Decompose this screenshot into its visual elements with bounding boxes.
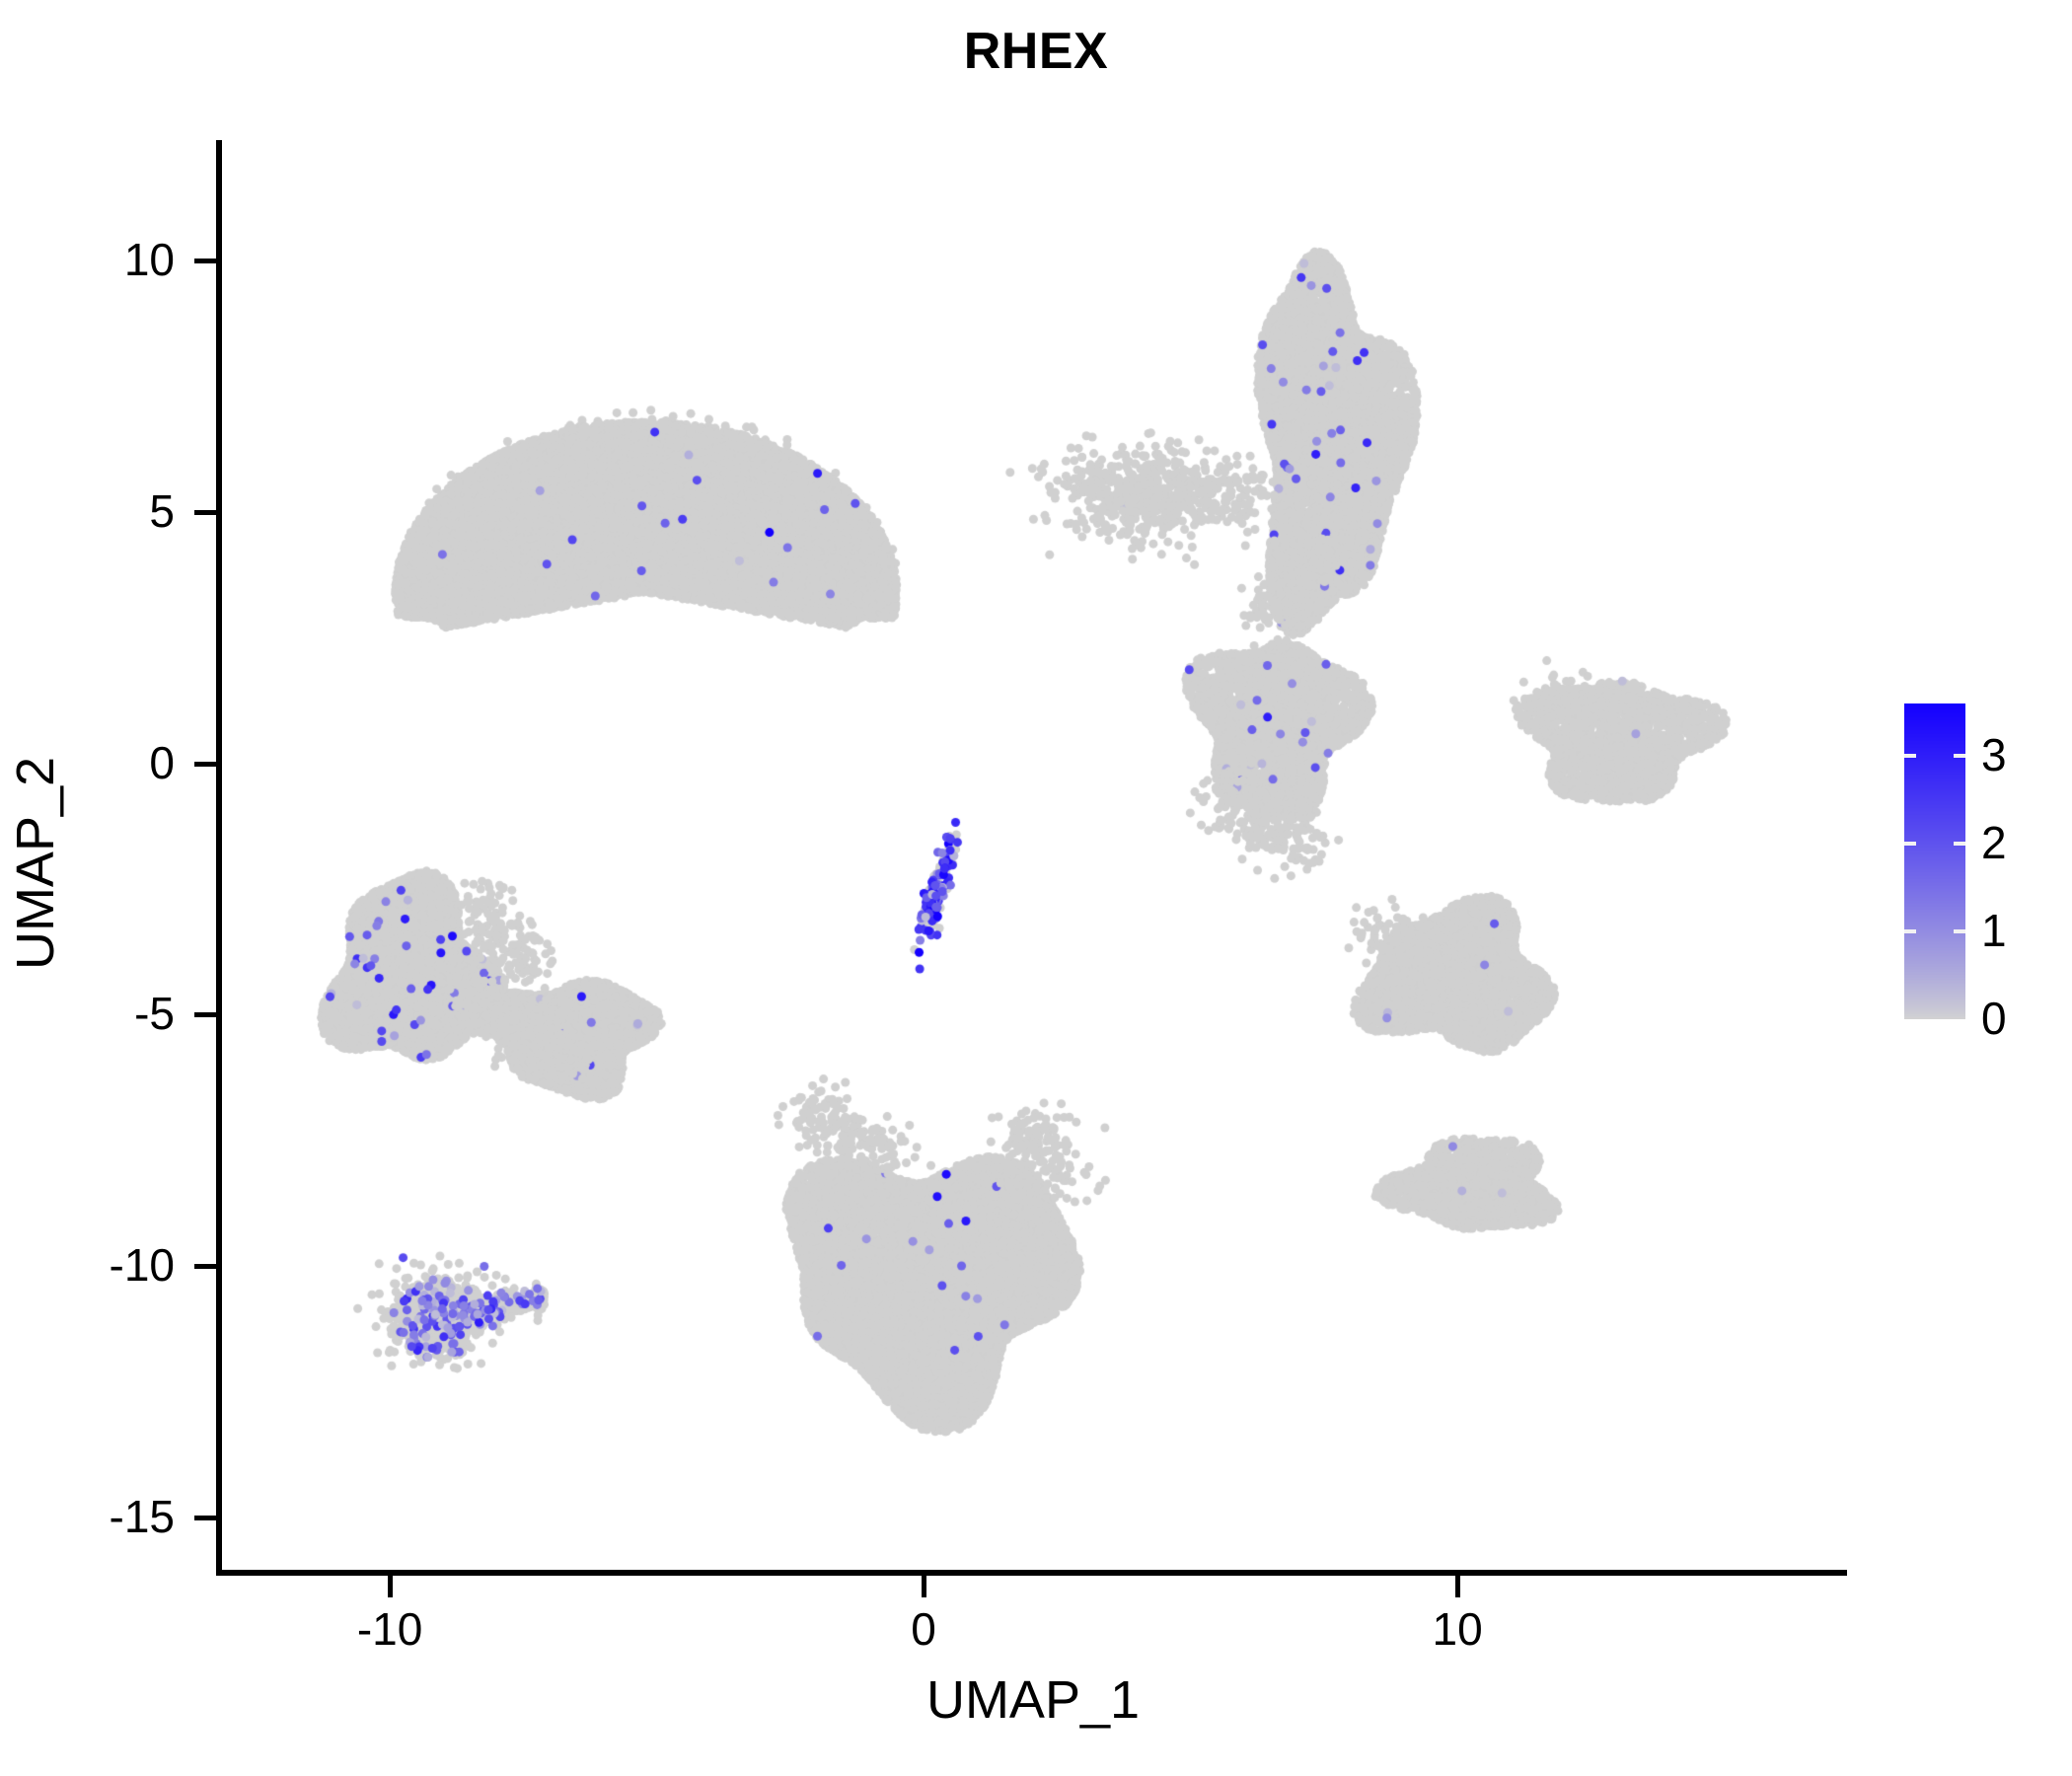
x-axis-title: UMAP_1 [219, 1669, 1847, 1731]
x-tick-label: 0 [825, 1606, 1022, 1652]
x-axis-line [216, 1570, 1847, 1576]
y-tick-mark [194, 1012, 216, 1017]
colorbar-tick-label: 0 [1981, 996, 2050, 1041]
y-tick-mark [194, 259, 216, 263]
colorbar-tick-label: 1 [1981, 908, 2050, 953]
x-tick-mark [388, 1576, 393, 1597]
colorbar-tick-mark [1954, 842, 1965, 846]
colorbar-tick-mark [1904, 754, 1916, 758]
y-axis-line [216, 140, 222, 1576]
colorbar-tick-label: 2 [1981, 820, 2050, 865]
y-tick-mark [194, 1264, 216, 1269]
x-tick-label: -10 [291, 1606, 488, 1652]
colorbar-legend: 0123 [1904, 703, 2052, 1019]
x-tick-mark [922, 1576, 926, 1597]
colorbar-tick-mark [1954, 754, 1965, 758]
y-axis-title: UMAP_2 [5, 147, 66, 1580]
x-tick-label: 10 [1359, 1606, 1556, 1652]
colorbar-tick-label: 3 [1981, 732, 2050, 777]
colorbar-tick-mark [1954, 929, 1965, 933]
colorbar-gradient [1904, 703, 1965, 1019]
plot-panel [219, 140, 1847, 1573]
page-title: RHEX [0, 22, 2072, 81]
colorbar-tick-mark [1904, 929, 1916, 933]
x-tick-mark [1455, 1576, 1460, 1597]
y-tick-mark [194, 1516, 216, 1520]
scatter-plot-canvas [219, 140, 1847, 1573]
colorbar-tick-mark [1904, 842, 1916, 846]
figure-root: RHEX 1050-5-10-15 -10010 UMAP_1 UMAP_2 0… [0, 0, 2072, 1776]
y-tick-mark [194, 510, 216, 515]
y-tick-mark [194, 762, 216, 767]
